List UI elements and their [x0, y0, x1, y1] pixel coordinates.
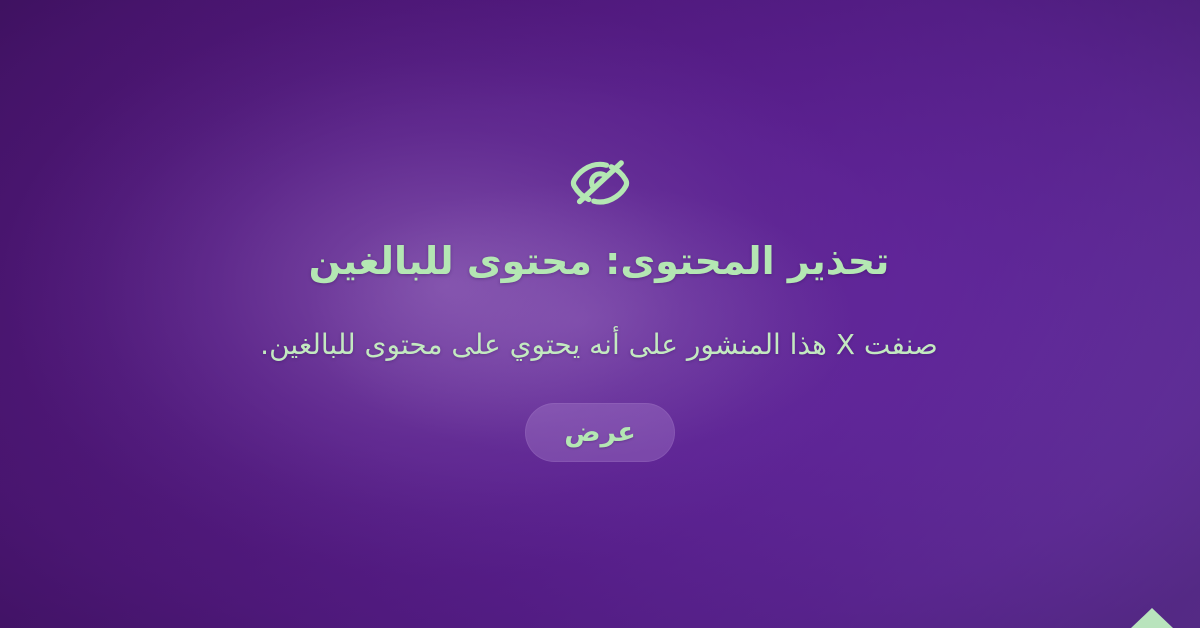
eye-off-icon	[566, 152, 634, 214]
warning-description: صنفت X هذا المنشور على أنه يحتوي على محت…	[168, 326, 1030, 364]
triangle-marker-icon	[1131, 608, 1173, 628]
warning-action-row: عرض	[225, 403, 975, 462]
content-warning-card: تحذير المحتوى: محتوى للبالغين صنفت X هذا…	[0, 0, 1200, 628]
triangle-marker	[1131, 608, 1173, 628]
view-content-button[interactable]: عرض	[525, 403, 675, 462]
warning-title: تحذير المحتوى: محتوى للبالغين	[218, 238, 980, 286]
card-content: تحذير المحتوى: محتوى للبالغين صنفت X هذا…	[0, 0, 1200, 628]
warning-icon-wrapper	[0, 152, 1200, 214]
